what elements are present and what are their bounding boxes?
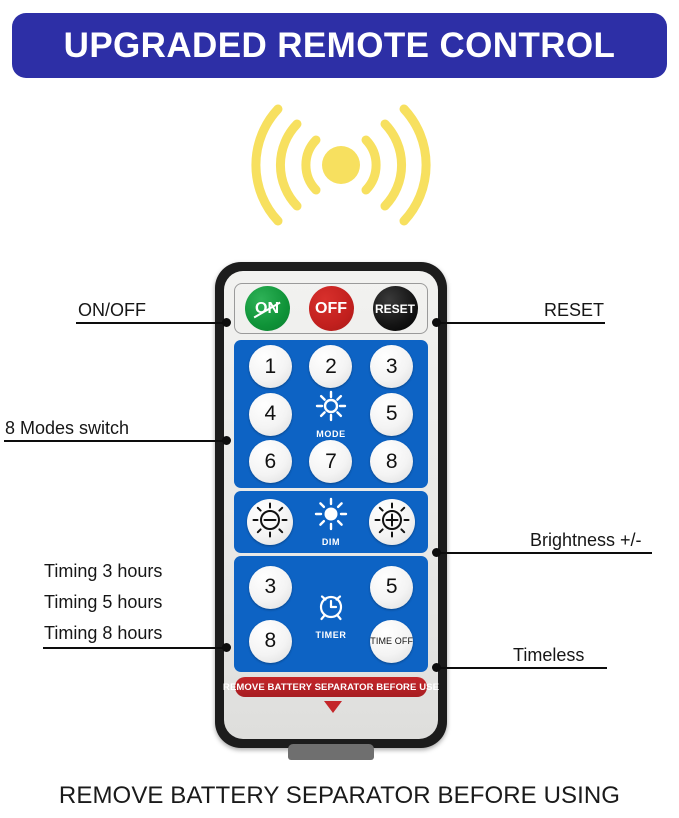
callout-on-off-label: ON/OFF [78,300,146,321]
dim-icon-label: DIM [322,537,340,547]
mode-key-6-label: 6 [264,450,276,474]
mode-key-7-label: 7 [325,450,337,474]
mode-key-3-label: 3 [386,355,398,379]
callout-reset-label: RESET [544,300,604,321]
timer-cell: 8 [240,614,301,668]
gear-icon [314,389,348,428]
callout-timing-5-label: Timing 5 hours [44,592,162,613]
callout-timeless-line [437,667,607,669]
mode-key-3[interactable]: 3 [370,345,413,388]
callout-modes-label: 8 Modes switch [5,418,129,439]
callout-reset-line [437,322,605,324]
alarm-clock-icon [313,588,349,629]
remote-face: ON OFF RESET 1 2 3 4 [224,271,438,739]
page-title-banner: UPGRADED REMOTE CONTROL [12,13,667,78]
mode-key-5[interactable]: 5 [370,393,413,436]
callout-brightness-label: Brightness +/- [530,530,642,551]
on-button[interactable]: ON [245,286,290,331]
on-button-label: ON [255,300,279,318]
modes-cell: 3 [361,344,422,389]
modes-cell: 1 [240,344,301,389]
dim-icon-cell[interactable]: DIM [301,491,362,553]
mode-icon-label: MODE [316,429,345,439]
mode-key-6[interactable]: 6 [249,440,292,483]
mode-key-8[interactable]: 8 [370,440,413,483]
wireless-signal-icon [236,104,446,226]
timer-key-3[interactable]: 3 [249,566,292,609]
callout-modes-line [4,440,226,442]
modes-cell: 5 [361,389,422,439]
brightness-down-button[interactable] [247,499,293,545]
power-button-row: ON OFF RESET [234,283,428,334]
brightness-up-button[interactable] [369,499,415,545]
mode-key-4[interactable]: 4 [249,393,292,436]
timer-icon-label: TIMER [315,630,346,640]
remote-control-device: ON OFF RESET 1 2 3 4 [215,262,447,748]
mode-icon-cell[interactable]: MODE [301,389,362,439]
timer-key-5-label: 5 [386,575,398,599]
callout-modes-dot [222,436,231,445]
timer-cell: 5 [361,560,422,614]
modes-cell: 6 [240,439,301,484]
reset-button-label: RESET [375,302,415,316]
battery-separator-warning-text: REMOVE BATTERY SEPARATOR BEFORE USE [223,682,439,693]
off-button-label: OFF [315,300,347,318]
brightness-up-cell [361,491,422,553]
modes-cell: 8 [361,439,422,484]
timer-cell: TIME OFF [361,614,422,668]
battery-separator-warning-strip: REMOVE BATTERY SEPARATOR BEFORE USE [235,677,427,697]
modes-keypad-panel: 1 2 3 4 [234,340,428,488]
mode-key-8-label: 8 [386,450,398,474]
callout-on-off-dot [222,318,231,327]
mode-key-5-label: 5 [386,402,398,426]
mode-key-2[interactable]: 2 [309,345,352,388]
modes-cell: 4 [240,389,301,439]
timer-key-5[interactable]: 5 [370,566,413,609]
bottom-caption: REMOVE BATTERY SEPARATOR BEFORE USING [0,782,679,810]
sun-plus-icon [373,501,411,544]
callout-timeless-label: Timeless [513,645,584,666]
sun-minus-icon [251,501,289,544]
timer-panel: 3 [234,556,428,672]
timer-key-3-label: 3 [264,575,276,599]
callout-brightness-dot [432,548,441,557]
reset-button[interactable]: RESET [373,286,418,331]
callout-timeless-dot [432,663,441,672]
time-off-button[interactable]: TIME OFF [370,620,413,663]
callout-timing-8-label: Timing 8 hours [44,623,162,644]
off-button[interactable]: OFF [309,286,354,331]
brightness-down-cell [240,491,301,553]
page-title: UPGRADED REMOTE CONTROL [64,26,616,66]
callout-on-off-line [76,322,226,324]
time-off-button-label: TIME OFF [370,636,413,646]
callout-brightness-line [437,552,652,554]
timer-key-8-label: 8 [264,629,276,653]
modes-cell: 7 [301,439,362,484]
mode-key-4-label: 4 [264,402,276,426]
callout-timing-dot [222,643,231,652]
mode-key-7[interactable]: 7 [309,440,352,483]
callout-timing-3-label: Timing 3 hours [44,561,162,582]
modes-cell: 2 [301,344,362,389]
callout-timing-line [43,647,226,649]
timer-icon-cell[interactable]: TIMER [301,560,362,668]
timer-key-8[interactable]: 8 [249,620,292,663]
remote-stand [288,744,374,760]
sun-icon [314,497,348,536]
brightness-panel: DIM [234,491,428,553]
callout-reset-dot [432,318,441,327]
timer-cell: 3 [240,560,301,614]
mode-key-2-label: 2 [325,355,337,379]
mode-key-1[interactable]: 1 [249,345,292,388]
warning-arrow-icon [324,701,342,713]
mode-key-1-label: 1 [264,355,276,379]
